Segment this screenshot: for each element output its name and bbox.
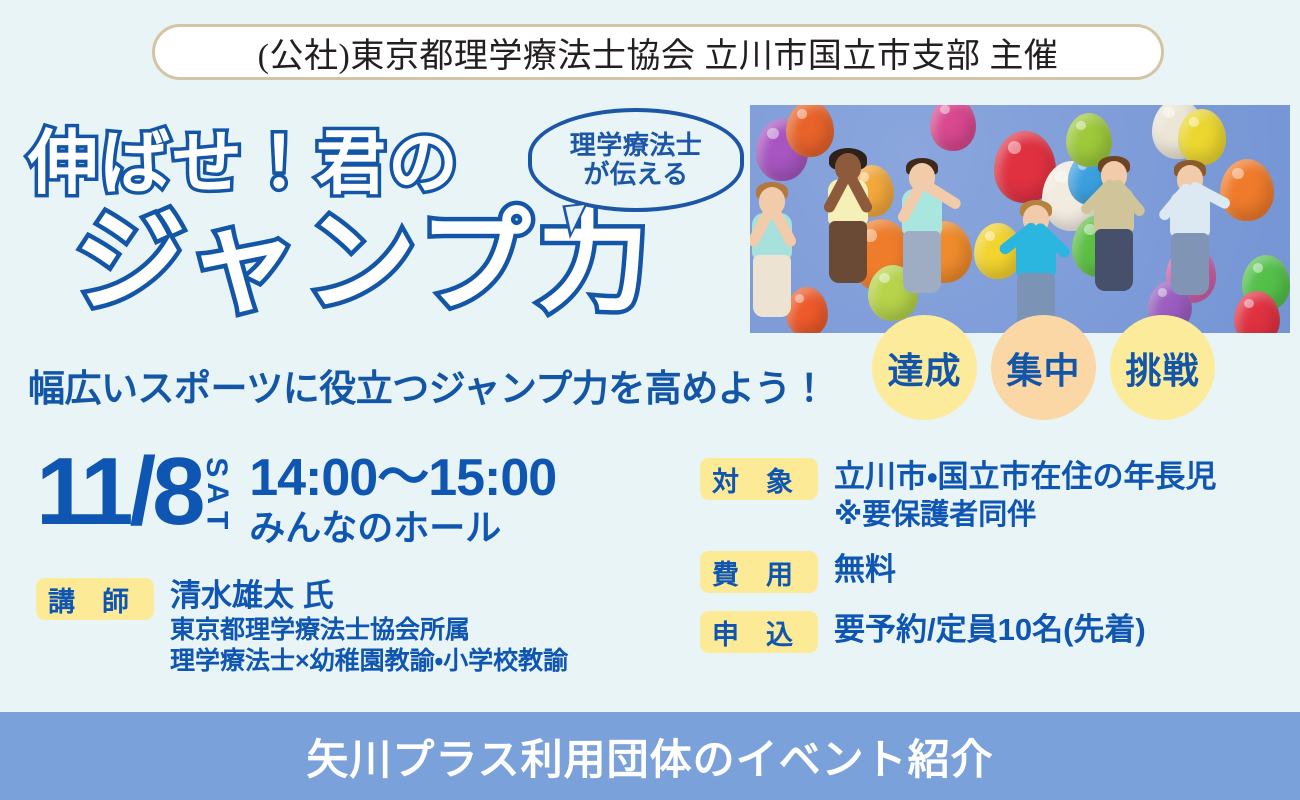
event-time: 14:00〜15:00 xyxy=(249,452,556,504)
badge-label: 集中 xyxy=(1006,342,1080,394)
event-venue: みんなのホール xyxy=(249,508,556,548)
dow-letter-a: A xyxy=(203,483,229,505)
info-note-target: ※要保護者同伴 xyxy=(834,497,1217,533)
jumping-children-photo xyxy=(750,105,1290,333)
poster-title-line-1: 伸ばせ！君の xyxy=(28,128,460,198)
lecturer-block: 講 師 清水雄太 氏 東京都理学療法士協会所属 理学療法士×幼稚園教諭・小学校教… xyxy=(36,578,568,677)
badge-focus: 集中 xyxy=(991,315,1096,420)
organizer-pill: (公社)東京都理学療法士協会 立川市国立市支部 主催 xyxy=(152,24,1164,80)
speech-bubble-line-1: 理学療法士 xyxy=(570,132,703,159)
balloon-orange-4 xyxy=(1220,159,1274,221)
poster-subtitle: 幅広いスポーツに役立つジャンプ力を高めよう！ xyxy=(28,358,827,412)
balloon-orange xyxy=(786,105,834,157)
info-row-target: 対 象 立川市・国立市在住の年長児 ※要保護者同伴 xyxy=(700,458,1280,533)
speech-bubble-line-2: が伝える xyxy=(583,161,688,188)
lecturer-details: 清水雄太 氏 東京都理学療法士協会所属 理学療法士×幼稚園教諭・小学校教諭 xyxy=(170,578,568,677)
info-value-target-wrapper: 立川市・国立市在住の年長児 ※要保護者同伴 xyxy=(834,458,1217,533)
badge-challenge: 挑戦 xyxy=(1110,315,1215,420)
badge-label: 達成 xyxy=(887,342,961,394)
info-chip-label: 対 象 xyxy=(712,460,793,499)
lecturer-qualification: 理学療法士×幼稚園教諭・小学校教諭 xyxy=(170,646,568,677)
event-poster: (公社)東京都理学療法士協会 立川市国立市支部 主催 xyxy=(0,0,1300,800)
info-row-fee: 費 用 無料 xyxy=(700,551,1280,593)
info-chip-label: 申 込 xyxy=(712,613,793,652)
keyword-badges: 達成 集中 挑戦 xyxy=(872,315,1215,420)
child-legs xyxy=(1171,233,1209,295)
child-legs xyxy=(829,221,867,283)
info-chip-label: 費 用 xyxy=(712,553,793,592)
speech-bubble: 理学療法士 が伝える xyxy=(528,108,744,212)
badge-achievement: 達成 xyxy=(872,315,977,420)
balloon-yellow-2 xyxy=(1178,109,1226,165)
badge-label: 挑戦 xyxy=(1125,342,1199,394)
child-legs xyxy=(753,255,791,317)
balloon-yellow xyxy=(974,223,1022,279)
schedule-block: 11/8 S A T 14:00〜15:00 みんなのホール xyxy=(36,448,556,548)
balloon-pink xyxy=(930,105,976,151)
lecturer-chip-label: 講 師 xyxy=(48,580,129,619)
time-venue-block: 14:00〜15:00 みんなのホール xyxy=(249,452,556,548)
info-value-target: 立川市・国立市在住の年長児 xyxy=(834,458,1217,497)
event-date: 11/8 xyxy=(36,448,202,536)
lecturer-name: 清水雄太 氏 xyxy=(170,578,568,615)
child-legs xyxy=(1095,229,1133,291)
info-list: 対 象 立川市・国立市在住の年長児 ※要保護者同伴 費 用 無料 申 込 要予約… xyxy=(700,458,1280,671)
info-chip-application: 申 込 xyxy=(700,611,818,653)
dow-letter-s: S xyxy=(203,457,229,477)
event-day-of-week: S A T xyxy=(206,454,228,533)
info-chip-target: 対 象 xyxy=(700,458,818,500)
info-chip-fee: 費 用 xyxy=(700,551,818,593)
info-value-fee: 無料 xyxy=(834,551,896,590)
info-value-application: 要予約/定員10名(先着) xyxy=(834,611,1146,650)
speech-bubble-text: 理学療法士 が伝える xyxy=(528,108,744,212)
dow-letter-t: T xyxy=(203,511,229,529)
lecturer-chip: 講 師 xyxy=(36,578,154,620)
bottom-banner-text: 矢川プラス利用団体のイベント紹介 xyxy=(306,726,993,787)
info-row-application: 申 込 要予約/定員10名(先着) xyxy=(700,611,1280,653)
balloon-orange-5 xyxy=(786,287,828,333)
child-legs xyxy=(903,231,941,293)
lecturer-affiliation: 東京都理学療法士協会所属 xyxy=(170,615,568,646)
organizer-label: (公社)東京都理学療法士協会 立川市国立市支部 主催 xyxy=(258,28,1059,77)
bottom-banner: 矢川プラス利用団体のイベント紹介 xyxy=(0,712,1300,800)
